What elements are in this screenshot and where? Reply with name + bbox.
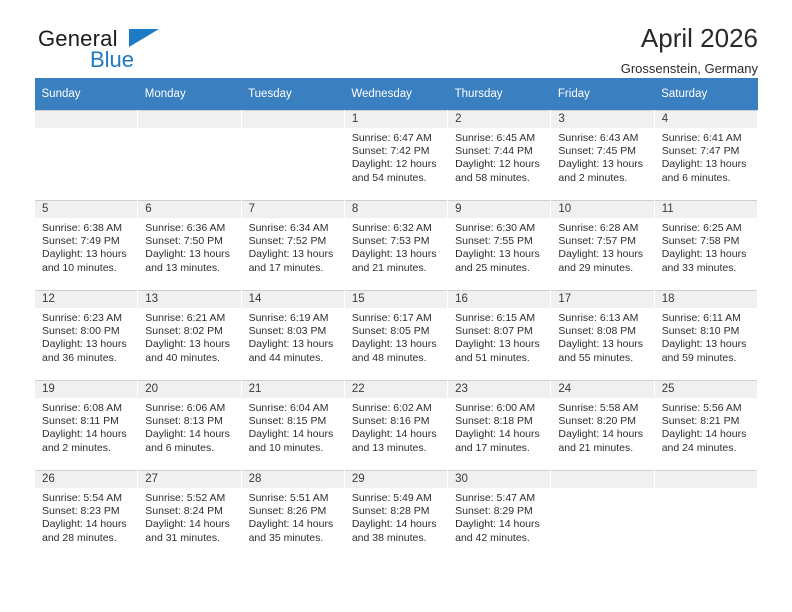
day-cell-inner: 7Sunrise: 6:34 AMSunset: 7:52 PMDaylight… xyxy=(242,201,344,290)
sunrise-text: Sunrise: 5:51 AM xyxy=(249,492,338,505)
day-details: Sunrise: 6:00 AMSunset: 8:18 PMDaylight:… xyxy=(448,398,550,455)
day-details: Sunrise: 5:56 AMSunset: 8:21 PMDaylight:… xyxy=(655,398,757,455)
day-cell-inner: 22Sunrise: 6:02 AMSunset: 8:16 PMDayligh… xyxy=(345,381,447,470)
sunset-text: Sunset: 8:18 PM xyxy=(455,415,544,428)
sunrise-text: Sunrise: 6:17 AM xyxy=(352,312,441,325)
weekday-header-friday: Friday xyxy=(551,78,654,111)
page-title: April 2026 xyxy=(621,24,758,54)
calendar-day-cell[interactable]: 9Sunrise: 6:30 AMSunset: 7:55 PMDaylight… xyxy=(448,201,551,291)
day-number xyxy=(655,471,757,488)
day-cell-inner xyxy=(242,111,344,200)
day-cell-inner xyxy=(655,471,757,560)
page-header: General Blue April 2026 Grossenstein, Ge… xyxy=(34,0,758,78)
day-details: Sunrise: 5:51 AMSunset: 8:26 PMDaylight:… xyxy=(242,488,344,545)
calendar-day-cell[interactable]: 6Sunrise: 6:36 AMSunset: 7:50 PMDaylight… xyxy=(138,201,241,291)
day-details: Sunrise: 5:58 AMSunset: 8:20 PMDaylight:… xyxy=(551,398,653,455)
daylight-text: Daylight: 12 hours and 58 minutes. xyxy=(455,158,544,184)
page-subtitle: Grossenstein, Germany xyxy=(621,61,758,76)
day-cell-inner: 1Sunrise: 6:47 AMSunset: 7:42 PMDaylight… xyxy=(345,111,447,200)
sunset-text: Sunset: 8:26 PM xyxy=(249,505,338,518)
day-number: 27 xyxy=(138,471,240,488)
day-number xyxy=(551,471,653,488)
calendar-day-cell[interactable]: 22Sunrise: 6:02 AMSunset: 8:16 PMDayligh… xyxy=(344,381,447,471)
day-number: 28 xyxy=(242,471,344,488)
sunrise-text: Sunrise: 6:13 AM xyxy=(558,312,647,325)
day-cell-inner: 16Sunrise: 6:15 AMSunset: 8:07 PMDayligh… xyxy=(448,291,550,380)
sunrise-text: Sunrise: 6:47 AM xyxy=(352,132,441,145)
calendar-day-cell[interactable]: 10Sunrise: 6:28 AMSunset: 7:57 PMDayligh… xyxy=(551,201,654,291)
sunrise-text: Sunrise: 6:00 AM xyxy=(455,402,544,415)
day-cell-inner: 25Sunrise: 5:56 AMSunset: 8:21 PMDayligh… xyxy=(655,381,757,470)
sunset-text: Sunset: 7:50 PM xyxy=(145,235,234,248)
day-cell-inner: 29Sunrise: 5:49 AMSunset: 8:28 PMDayligh… xyxy=(345,471,447,560)
sunset-text: Sunset: 8:20 PM xyxy=(558,415,647,428)
calendar-day-cell[interactable]: 13Sunrise: 6:21 AMSunset: 8:02 PMDayligh… xyxy=(138,291,241,381)
sunrise-text: Sunrise: 6:30 AM xyxy=(455,222,544,235)
sunset-text: Sunset: 7:47 PM xyxy=(662,145,751,158)
day-number: 22 xyxy=(345,381,447,398)
sunrise-text: Sunrise: 6:43 AM xyxy=(558,132,647,145)
daylight-text: Daylight: 14 hours and 6 minutes. xyxy=(145,428,234,454)
daylight-text: Daylight: 14 hours and 2 minutes. xyxy=(42,428,131,454)
sunset-text: Sunset: 8:07 PM xyxy=(455,325,544,338)
daylight-text: Daylight: 13 hours and 55 minutes. xyxy=(558,338,647,364)
sunrise-text: Sunrise: 6:19 AM xyxy=(249,312,338,325)
daylight-text: Daylight: 13 hours and 48 minutes. xyxy=(352,338,441,364)
day-cell-inner: 10Sunrise: 6:28 AMSunset: 7:57 PMDayligh… xyxy=(551,201,653,290)
day-details: Sunrise: 5:54 AMSunset: 8:23 PMDaylight:… xyxy=(35,488,137,545)
brand-name-blue: Blue xyxy=(90,47,134,73)
day-cell-inner: 19Sunrise: 6:08 AMSunset: 8:11 PMDayligh… xyxy=(35,381,137,470)
day-number: 30 xyxy=(448,471,550,488)
daylight-text: Daylight: 13 hours and 2 minutes. xyxy=(558,158,647,184)
day-details: Sunrise: 6:04 AMSunset: 8:15 PMDaylight:… xyxy=(242,398,344,455)
sunrise-text: Sunrise: 6:06 AM xyxy=(145,402,234,415)
sunrise-text: Sunrise: 5:47 AM xyxy=(455,492,544,505)
day-number: 24 xyxy=(551,381,653,398)
sunset-text: Sunset: 8:24 PM xyxy=(145,505,234,518)
daylight-text: Daylight: 12 hours and 54 minutes. xyxy=(352,158,441,184)
weekday-header-monday: Monday xyxy=(138,78,241,111)
day-cell-inner: 3Sunrise: 6:43 AMSunset: 7:45 PMDaylight… xyxy=(551,111,653,200)
weekday-header-saturday: Saturday xyxy=(654,78,757,111)
day-details: Sunrise: 6:25 AMSunset: 7:58 PMDaylight:… xyxy=(655,218,757,275)
daylight-text: Daylight: 14 hours and 42 minutes. xyxy=(455,518,544,544)
day-number xyxy=(138,111,240,128)
day-cell-inner: 2Sunrise: 6:45 AMSunset: 7:44 PMDaylight… xyxy=(448,111,550,200)
day-number: 19 xyxy=(35,381,137,398)
calendar-day-cell-empty xyxy=(654,471,757,561)
calendar-week-row: 12Sunrise: 6:23 AMSunset: 8:00 PMDayligh… xyxy=(35,291,758,381)
day-cell-inner: 20Sunrise: 6:06 AMSunset: 8:13 PMDayligh… xyxy=(138,381,240,470)
day-details: Sunrise: 6:28 AMSunset: 7:57 PMDaylight:… xyxy=(551,218,653,275)
day-details: Sunrise: 6:19 AMSunset: 8:03 PMDaylight:… xyxy=(242,308,344,365)
day-cell-inner: 24Sunrise: 5:58 AMSunset: 8:20 PMDayligh… xyxy=(551,381,653,470)
daylight-text: Daylight: 13 hours and 25 minutes. xyxy=(455,248,544,274)
day-number: 7 xyxy=(242,201,344,218)
calendar-day-cell[interactable]: 15Sunrise: 6:17 AMSunset: 8:05 PMDayligh… xyxy=(344,291,447,381)
day-details: Sunrise: 6:02 AMSunset: 8:16 PMDaylight:… xyxy=(345,398,447,455)
daylight-text: Daylight: 14 hours and 24 minutes. xyxy=(662,428,751,454)
sunset-text: Sunset: 8:29 PM xyxy=(455,505,544,518)
sunset-text: Sunset: 7:49 PM xyxy=(42,235,131,248)
day-cell-inner: 21Sunrise: 6:04 AMSunset: 8:15 PMDayligh… xyxy=(242,381,344,470)
day-number: 15 xyxy=(345,291,447,308)
weekday-header-thursday: Thursday xyxy=(448,78,551,111)
calendar-day-cell[interactable]: 17Sunrise: 6:13 AMSunset: 8:08 PMDayligh… xyxy=(551,291,654,381)
day-number: 6 xyxy=(138,201,240,218)
day-number: 29 xyxy=(345,471,447,488)
weekday-header-wednesday: Wednesday xyxy=(344,78,447,111)
sunset-text: Sunset: 8:11 PM xyxy=(42,415,131,428)
blue-triangle-flag-icon xyxy=(129,29,159,47)
daylight-text: Daylight: 13 hours and 29 minutes. xyxy=(558,248,647,274)
day-number: 13 xyxy=(138,291,240,308)
calendar-day-cell[interactable]: 18Sunrise: 6:11 AMSunset: 8:10 PMDayligh… xyxy=(654,291,757,381)
sunrise-text: Sunrise: 6:11 AM xyxy=(662,312,751,325)
day-number: 17 xyxy=(551,291,653,308)
sunset-text: Sunset: 8:08 PM xyxy=(558,325,647,338)
daylight-text: Daylight: 14 hours and 35 minutes. xyxy=(249,518,338,544)
day-cell-inner: 30Sunrise: 5:47 AMSunset: 8:29 PMDayligh… xyxy=(448,471,550,560)
sunrise-text: Sunrise: 6:02 AM xyxy=(352,402,441,415)
sunset-text: Sunset: 8:28 PM xyxy=(352,505,441,518)
calendar-day-cell[interactable]: 12Sunrise: 6:23 AMSunset: 8:00 PMDayligh… xyxy=(35,291,138,381)
sunrise-text: Sunrise: 6:32 AM xyxy=(352,222,441,235)
sunset-text: Sunset: 8:23 PM xyxy=(42,505,131,518)
daylight-text: Daylight: 14 hours and 21 minutes. xyxy=(558,428,647,454)
day-cell-inner: 5Sunrise: 6:38 AMSunset: 7:49 PMDaylight… xyxy=(35,201,137,290)
day-details: Sunrise: 6:11 AMSunset: 8:10 PMDaylight:… xyxy=(655,308,757,365)
calendar-day-cell-empty xyxy=(551,471,654,561)
day-cell-inner xyxy=(138,111,240,200)
calendar-week-row: 19Sunrise: 6:08 AMSunset: 8:11 PMDayligh… xyxy=(35,381,758,471)
day-cell-inner: 27Sunrise: 5:52 AMSunset: 8:24 PMDayligh… xyxy=(138,471,240,560)
day-details: Sunrise: 6:32 AMSunset: 7:53 PMDaylight:… xyxy=(345,218,447,275)
sunset-text: Sunset: 8:00 PM xyxy=(42,325,131,338)
day-cell-inner: 4Sunrise: 6:41 AMSunset: 7:47 PMDaylight… xyxy=(655,111,757,200)
daylight-text: Daylight: 13 hours and 51 minutes. xyxy=(455,338,544,364)
sunset-text: Sunset: 7:55 PM xyxy=(455,235,544,248)
day-number: 26 xyxy=(35,471,137,488)
day-number: 5 xyxy=(35,201,137,218)
day-details: Sunrise: 6:13 AMSunset: 8:08 PMDaylight:… xyxy=(551,308,653,365)
brand-logo[interactable]: General Blue xyxy=(34,22,234,74)
daylight-text: Daylight: 14 hours and 13 minutes. xyxy=(352,428,441,454)
daylight-text: Daylight: 14 hours and 17 minutes. xyxy=(455,428,544,454)
day-details: Sunrise: 6:43 AMSunset: 7:45 PMDaylight:… xyxy=(551,128,653,185)
title-block: April 2026 Grossenstein, Germany xyxy=(621,22,758,76)
day-cell-inner: 6Sunrise: 6:36 AMSunset: 7:50 PMDaylight… xyxy=(138,201,240,290)
calendar-day-cell[interactable]: 3Sunrise: 6:43 AMSunset: 7:45 PMDaylight… xyxy=(551,111,654,201)
sunrise-text: Sunrise: 5:58 AM xyxy=(558,402,647,415)
calendar-day-cell[interactable]: 14Sunrise: 6:19 AMSunset: 8:03 PMDayligh… xyxy=(241,291,344,381)
calendar-day-cell[interactable]: 16Sunrise: 6:15 AMSunset: 8:07 PMDayligh… xyxy=(448,291,551,381)
day-number: 3 xyxy=(551,111,653,128)
day-number: 4 xyxy=(655,111,757,128)
day-number: 9 xyxy=(448,201,550,218)
sunset-text: Sunset: 7:58 PM xyxy=(662,235,751,248)
day-number xyxy=(35,111,137,128)
daylight-text: Daylight: 13 hours and 36 minutes. xyxy=(42,338,131,364)
sunrise-text: Sunrise: 6:23 AM xyxy=(42,312,131,325)
calendar-day-cell[interactable]: 2Sunrise: 6:45 AMSunset: 7:44 PMDaylight… xyxy=(448,111,551,201)
sunrise-text: Sunrise: 6:38 AM xyxy=(42,222,131,235)
sunrise-text: Sunrise: 6:41 AM xyxy=(662,132,751,145)
calendar-day-cell[interactable]: 23Sunrise: 6:00 AMSunset: 8:18 PMDayligh… xyxy=(448,381,551,471)
day-cell-inner xyxy=(35,111,137,200)
calendar-day-cell[interactable]: 25Sunrise: 5:56 AMSunset: 8:21 PMDayligh… xyxy=(654,381,757,471)
day-cell-inner: 14Sunrise: 6:19 AMSunset: 8:03 PMDayligh… xyxy=(242,291,344,380)
calendar-day-cell[interactable]: 20Sunrise: 6:06 AMSunset: 8:13 PMDayligh… xyxy=(138,381,241,471)
sunset-text: Sunset: 8:10 PM xyxy=(662,325,751,338)
calendar-day-cell[interactable]: 5Sunrise: 6:38 AMSunset: 7:49 PMDaylight… xyxy=(35,201,138,291)
sunrise-text: Sunrise: 6:08 AM xyxy=(42,402,131,415)
calendar-day-cell[interactable]: 8Sunrise: 6:32 AMSunset: 7:53 PMDaylight… xyxy=(344,201,447,291)
day-details: Sunrise: 6:45 AMSunset: 7:44 PMDaylight:… xyxy=(448,128,550,185)
day-details: Sunrise: 6:15 AMSunset: 8:07 PMDaylight:… xyxy=(448,308,550,365)
daylight-text: Daylight: 14 hours and 31 minutes. xyxy=(145,518,234,544)
daylight-text: Daylight: 13 hours and 33 minutes. xyxy=(662,248,751,274)
day-cell-inner: 15Sunrise: 6:17 AMSunset: 8:05 PMDayligh… xyxy=(345,291,447,380)
sunset-text: Sunset: 8:21 PM xyxy=(662,415,751,428)
calendar-day-cell[interactable]: 11Sunrise: 6:25 AMSunset: 7:58 PMDayligh… xyxy=(654,201,757,291)
sunrise-text: Sunrise: 6:21 AM xyxy=(145,312,234,325)
day-details: Sunrise: 5:47 AMSunset: 8:29 PMDaylight:… xyxy=(448,488,550,545)
day-number xyxy=(242,111,344,128)
day-number: 21 xyxy=(242,381,344,398)
day-cell-inner: 18Sunrise: 6:11 AMSunset: 8:10 PMDayligh… xyxy=(655,291,757,380)
day-details: Sunrise: 5:52 AMSunset: 8:24 PMDaylight:… xyxy=(138,488,240,545)
day-details: Sunrise: 6:08 AMSunset: 8:11 PMDaylight:… xyxy=(35,398,137,455)
daylight-text: Daylight: 13 hours and 13 minutes. xyxy=(145,248,234,274)
calendar-day-cell[interactable]: 21Sunrise: 6:04 AMSunset: 8:15 PMDayligh… xyxy=(241,381,344,471)
day-cell-inner: 12Sunrise: 6:23 AMSunset: 8:00 PMDayligh… xyxy=(35,291,137,380)
day-number: 23 xyxy=(448,381,550,398)
calendar-page: General Blue April 2026 Grossenstein, Ge… xyxy=(0,0,792,612)
sunset-text: Sunset: 8:03 PM xyxy=(249,325,338,338)
calendar-week-row: 26Sunrise: 5:54 AMSunset: 8:23 PMDayligh… xyxy=(35,471,758,561)
daylight-text: Daylight: 13 hours and 59 minutes. xyxy=(662,338,751,364)
day-number: 11 xyxy=(655,201,757,218)
calendar-day-cell[interactable]: 30Sunrise: 5:47 AMSunset: 8:29 PMDayligh… xyxy=(448,471,551,561)
day-number: 16 xyxy=(448,291,550,308)
sunrise-text: Sunrise: 5:49 AM xyxy=(352,492,441,505)
calendar-day-cell[interactable]: 28Sunrise: 5:51 AMSunset: 8:26 PMDayligh… xyxy=(241,471,344,561)
calendar-day-cell-empty xyxy=(138,111,241,201)
calendar-header-row: SundayMondayTuesdayWednesdayThursdayFrid… xyxy=(35,78,758,111)
day-details: Sunrise: 6:06 AMSunset: 8:13 PMDaylight:… xyxy=(138,398,240,455)
calendar-day-cell[interactable]: 7Sunrise: 6:34 AMSunset: 7:52 PMDaylight… xyxy=(241,201,344,291)
sunrise-text: Sunrise: 6:36 AM xyxy=(145,222,234,235)
weekday-header-tuesday: Tuesday xyxy=(241,78,344,111)
calendar-day-cell-empty xyxy=(35,111,138,201)
calendar-day-cell[interactable]: 1Sunrise: 6:47 AMSunset: 7:42 PMDaylight… xyxy=(344,111,447,201)
calendar-week-row: 5Sunrise: 6:38 AMSunset: 7:49 PMDaylight… xyxy=(35,201,758,291)
calendar-day-cell-empty xyxy=(241,111,344,201)
calendar-week-row: 1Sunrise: 6:47 AMSunset: 7:42 PMDaylight… xyxy=(35,111,758,201)
sunrise-text: Sunrise: 6:28 AM xyxy=(558,222,647,235)
day-cell-inner: 11Sunrise: 6:25 AMSunset: 7:58 PMDayligh… xyxy=(655,201,757,290)
day-cell-inner: 28Sunrise: 5:51 AMSunset: 8:26 PMDayligh… xyxy=(242,471,344,560)
weekday-header-sunday: Sunday xyxy=(35,78,138,111)
sunrise-text: Sunrise: 6:15 AM xyxy=(455,312,544,325)
day-number: 10 xyxy=(551,201,653,218)
calendar-day-cell[interactable]: 26Sunrise: 5:54 AMSunset: 8:23 PMDayligh… xyxy=(35,471,138,561)
day-cell-inner: 9Sunrise: 6:30 AMSunset: 7:55 PMDaylight… xyxy=(448,201,550,290)
sunset-text: Sunset: 7:42 PM xyxy=(352,145,441,158)
sunset-text: Sunset: 8:02 PM xyxy=(145,325,234,338)
sunrise-text: Sunrise: 6:25 AM xyxy=(662,222,751,235)
calendar-day-cell[interactable]: 19Sunrise: 6:08 AMSunset: 8:11 PMDayligh… xyxy=(35,381,138,471)
sunset-text: Sunset: 8:13 PM xyxy=(145,415,234,428)
sunset-text: Sunset: 7:52 PM xyxy=(249,235,338,248)
day-number: 20 xyxy=(138,381,240,398)
calendar-day-cell[interactable]: 24Sunrise: 5:58 AMSunset: 8:20 PMDayligh… xyxy=(551,381,654,471)
day-number: 1 xyxy=(345,111,447,128)
sunset-text: Sunset: 8:16 PM xyxy=(352,415,441,428)
sunset-text: Sunset: 7:53 PM xyxy=(352,235,441,248)
day-details: Sunrise: 6:23 AMSunset: 8:00 PMDaylight:… xyxy=(35,308,137,365)
calendar-day-cell[interactable]: 4Sunrise: 6:41 AMSunset: 7:47 PMDaylight… xyxy=(654,111,757,201)
day-number: 14 xyxy=(242,291,344,308)
sunrise-text: Sunrise: 6:45 AM xyxy=(455,132,544,145)
daylight-text: Daylight: 13 hours and 21 minutes. xyxy=(352,248,441,274)
day-details: Sunrise: 6:34 AMSunset: 7:52 PMDaylight:… xyxy=(242,218,344,275)
daylight-text: Daylight: 13 hours and 17 minutes. xyxy=(249,248,338,274)
day-details: Sunrise: 6:41 AMSunset: 7:47 PMDaylight:… xyxy=(655,128,757,185)
day-cell-inner: 8Sunrise: 6:32 AMSunset: 7:53 PMDaylight… xyxy=(345,201,447,290)
day-details: Sunrise: 5:49 AMSunset: 8:28 PMDaylight:… xyxy=(345,488,447,545)
day-cell-inner xyxy=(551,471,653,560)
sunset-text: Sunset: 7:57 PM xyxy=(558,235,647,248)
day-details: Sunrise: 6:38 AMSunset: 7:49 PMDaylight:… xyxy=(35,218,137,275)
daylight-text: Daylight: 13 hours and 40 minutes. xyxy=(145,338,234,364)
daylight-text: Daylight: 14 hours and 38 minutes. xyxy=(352,518,441,544)
day-number: 12 xyxy=(35,291,137,308)
day-number: 2 xyxy=(448,111,550,128)
sunset-text: Sunset: 7:44 PM xyxy=(455,145,544,158)
sunrise-text: Sunrise: 5:52 AM xyxy=(145,492,234,505)
calendar-day-cell[interactable]: 29Sunrise: 5:49 AMSunset: 8:28 PMDayligh… xyxy=(344,471,447,561)
day-details: Sunrise: 6:36 AMSunset: 7:50 PMDaylight:… xyxy=(138,218,240,275)
day-details: Sunrise: 6:47 AMSunset: 7:42 PMDaylight:… xyxy=(345,128,447,185)
day-number: 18 xyxy=(655,291,757,308)
day-details: Sunrise: 6:21 AMSunset: 8:02 PMDaylight:… xyxy=(138,308,240,365)
day-cell-inner: 13Sunrise: 6:21 AMSunset: 8:02 PMDayligh… xyxy=(138,291,240,380)
calendar-table: SundayMondayTuesdayWednesdayThursdayFrid… xyxy=(34,78,758,560)
sunrise-text: Sunrise: 6:34 AM xyxy=(249,222,338,235)
day-details: Sunrise: 6:30 AMSunset: 7:55 PMDaylight:… xyxy=(448,218,550,275)
day-details: Sunrise: 6:17 AMSunset: 8:05 PMDaylight:… xyxy=(345,308,447,365)
calendar-day-cell[interactable]: 27Sunrise: 5:52 AMSunset: 8:24 PMDayligh… xyxy=(138,471,241,561)
day-cell-inner: 26Sunrise: 5:54 AMSunset: 8:23 PMDayligh… xyxy=(35,471,137,560)
sunset-text: Sunset: 8:15 PM xyxy=(249,415,338,428)
day-cell-inner: 17Sunrise: 6:13 AMSunset: 8:08 PMDayligh… xyxy=(551,291,653,380)
day-number: 25 xyxy=(655,381,757,398)
daylight-text: Daylight: 13 hours and 10 minutes. xyxy=(42,248,131,274)
daylight-text: Daylight: 13 hours and 44 minutes. xyxy=(249,338,338,364)
sunrise-text: Sunrise: 5:54 AM xyxy=(42,492,131,505)
day-number: 8 xyxy=(345,201,447,218)
daylight-text: Daylight: 14 hours and 10 minutes. xyxy=(249,428,338,454)
daylight-text: Daylight: 13 hours and 6 minutes. xyxy=(662,158,751,184)
calendar-body: 1Sunrise: 6:47 AMSunset: 7:42 PMDaylight… xyxy=(35,111,758,561)
sunrise-text: Sunrise: 5:56 AM xyxy=(662,402,751,415)
sunset-text: Sunset: 8:05 PM xyxy=(352,325,441,338)
sunrise-text: Sunrise: 6:04 AM xyxy=(249,402,338,415)
daylight-text: Daylight: 14 hours and 28 minutes. xyxy=(42,518,131,544)
sunset-text: Sunset: 7:45 PM xyxy=(558,145,647,158)
day-cell-inner: 23Sunrise: 6:00 AMSunset: 8:18 PMDayligh… xyxy=(448,381,550,470)
